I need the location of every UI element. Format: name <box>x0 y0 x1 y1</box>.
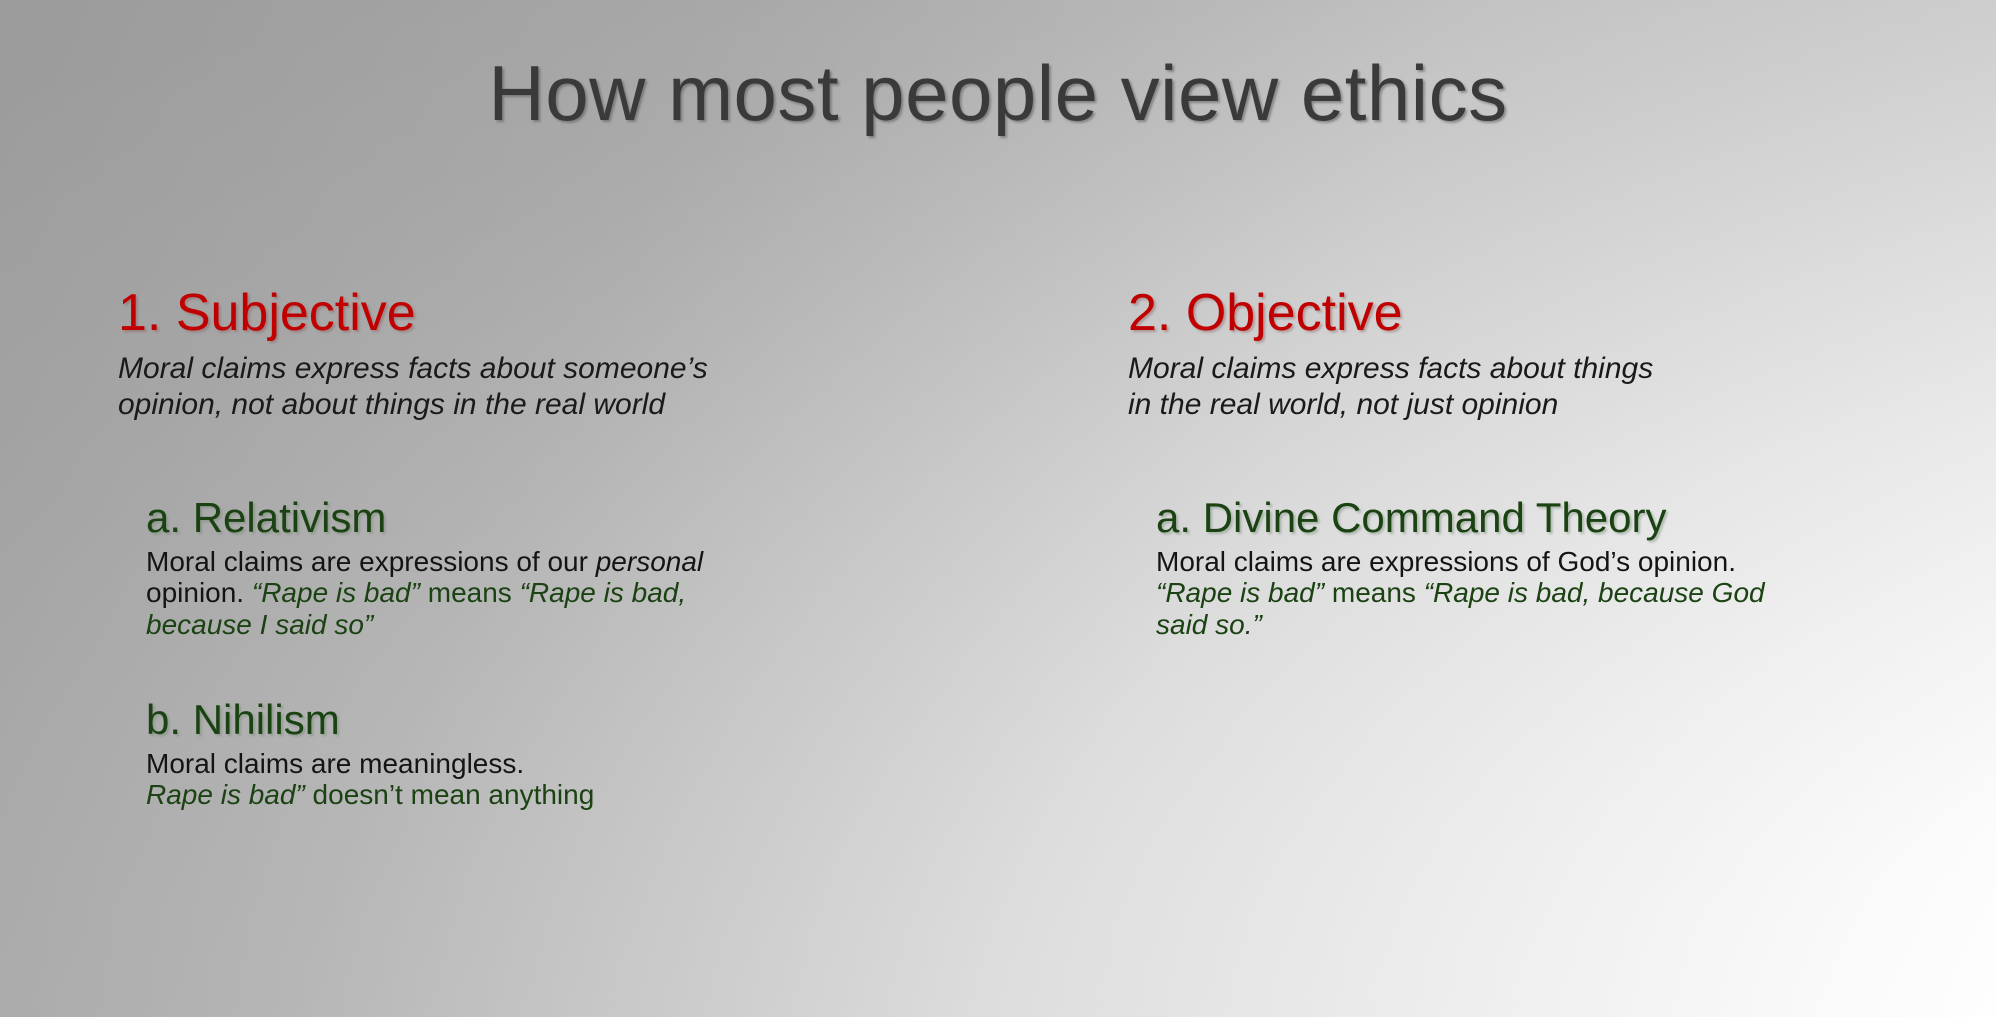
category-description-subjective: Moral claims express facts about someone… <box>118 351 908 424</box>
theory-body-line-1: Moral claims are expressions of God’s op… <box>1156 546 1918 577</box>
category-heading-subjective: 1. Subjective <box>118 286 908 341</box>
slide-canvas: How most people view ethics 1. Subjectiv… <box>0 0 1996 1017</box>
theory-divine-command-theory: a. Divine Command Theory Moral claims ar… <box>1156 496 1918 640</box>
theory-body-quote-1: “Rape is bad” <box>252 577 420 608</box>
theory-body-line-2: opinion. “Rape is bad” means “Rape is ba… <box>146 577 908 608</box>
theory-body-emphasis: personal <box>596 546 703 577</box>
category-description-line-2: in the real world, not just opinion <box>1128 387 1918 424</box>
theory-body-text: opinion. <box>146 577 252 608</box>
theory-relativism: a. Relativism Moral claims are expressio… <box>146 496 908 640</box>
column-subjective: 1. Subjective Moral claims express facts… <box>118 286 908 811</box>
theory-body-quote-2: “Rape is bad, <box>520 577 687 608</box>
category-description-line-1: Moral claims express facts about things <box>1128 351 1918 388</box>
category-description-objective: Moral claims express facts about things … <box>1128 351 1918 424</box>
theory-body-text: Moral claims are expressions of our <box>146 546 596 577</box>
theory-body-quote-3: because I said so” <box>146 609 373 640</box>
theory-body-quote-2: “Rape is bad, because God <box>1424 577 1765 608</box>
theory-body-quote-1: Rape is bad” <box>146 779 305 810</box>
theory-body-line-3: because I said so” <box>146 609 908 640</box>
theory-body-line-2: “Rape is bad” means “Rape is bad, becaus… <box>1156 577 1918 608</box>
category-description-line-2: opinion, not about things in the real wo… <box>118 387 908 424</box>
category-heading-objective: 2. Objective <box>1128 286 1918 341</box>
theory-body-means: means <box>1324 577 1424 608</box>
theory-heading-relativism: a. Relativism <box>146 496 908 540</box>
theory-body-line-1: Moral claims are expressions of our pers… <box>146 546 908 577</box>
theory-body-line-2: Rape is bad” doesn’t mean anything <box>146 779 908 810</box>
theory-heading-nihilism: b. Nihilism <box>146 698 908 742</box>
theory-body-quote-rest: doesn’t mean anything <box>305 779 595 810</box>
page-title: How most people view ethics <box>0 48 1996 139</box>
theory-heading-divine-command-theory: a. Divine Command Theory <box>1156 496 1918 540</box>
theory-body-line-1: Moral claims are meaningless. <box>146 748 908 779</box>
theory-nihilism: b. Nihilism Moral claims are meaningless… <box>146 698 908 811</box>
column-objective: 2. Objective Moral claims express facts … <box>1128 286 1918 640</box>
category-description-line-1: Moral claims express facts about someone… <box>118 351 908 388</box>
theory-body-quote-3: said so.” <box>1156 609 1262 640</box>
theory-body-nihilism: Moral claims are meaningless. Rape is ba… <box>146 748 908 811</box>
theory-body-divine-command-theory: Moral claims are expressions of God’s op… <box>1156 546 1918 640</box>
theory-body-quote-1: “Rape is bad” <box>1156 577 1324 608</box>
theory-body-relativism: Moral claims are expressions of our pers… <box>146 546 908 640</box>
theory-body-means: means <box>420 577 520 608</box>
theory-body-line-3: said so.” <box>1156 609 1918 640</box>
